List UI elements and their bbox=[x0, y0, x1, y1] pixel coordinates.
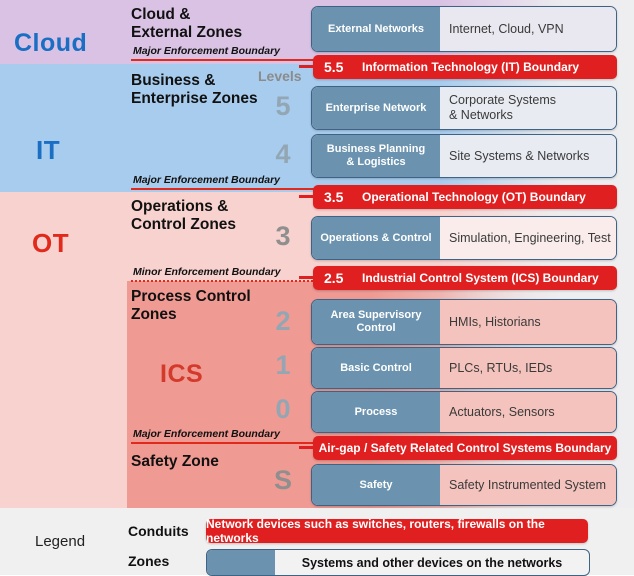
zone-row-process[interactable]: Process Actuators, Sensors bbox=[311, 391, 617, 433]
boundary-rule bbox=[131, 59, 317, 61]
title-line-1: Process Control bbox=[131, 288, 251, 306]
zone-name: Safety bbox=[312, 465, 440, 505]
zone-devices: Corporate Systems& Networks bbox=[440, 87, 616, 129]
zone-name: Basic Control bbox=[312, 348, 440, 388]
zone-devices: Safety Instrumented System bbox=[440, 465, 616, 505]
level-number-5: 5 bbox=[268, 91, 298, 122]
conduit-ics-boundary[interactable]: 2.5 Industrial Control System (ICS) Boun… bbox=[313, 266, 617, 290]
zone-row-enterprise-network[interactable]: Enterprise Network Corporate Systems& Ne… bbox=[311, 86, 617, 130]
levels-header: Levels bbox=[258, 68, 302, 84]
conduit-airgap-safety-boundary[interactable]: Air-gap / Safety Related Control Systems… bbox=[313, 436, 617, 460]
legend-zone-color-chip bbox=[207, 550, 275, 575]
conduit-tail bbox=[299, 276, 315, 279]
conduit-tail bbox=[299, 446, 315, 449]
zone-devices: HMIs, Historians bbox=[440, 300, 616, 344]
zone-group-title-cloud: Cloud & External Zones bbox=[131, 6, 242, 42]
title-line-1: Business & bbox=[131, 72, 258, 90]
zone-name: Business Planning& Logistics bbox=[312, 135, 440, 177]
boundary-major-safety: Major Enforcement Boundary bbox=[131, 429, 317, 444]
zone-row-business-planning-logistics[interactable]: Business Planning& Logistics Site System… bbox=[311, 134, 617, 178]
legend-title: Legend bbox=[35, 533, 85, 550]
conduit-number: 2.5 bbox=[313, 270, 350, 286]
level-number-s: S bbox=[268, 465, 298, 496]
title-line-2: Control Zones bbox=[131, 216, 236, 234]
domain-label-ics: ICS bbox=[160, 360, 203, 389]
level-number-4: 4 bbox=[268, 139, 298, 170]
boundary-major-cloud-it: Major Enforcement Boundary bbox=[131, 46, 317, 61]
zone-name: Enterprise Network bbox=[312, 87, 440, 129]
conduit-label: Information Technology (IT) Boundary bbox=[350, 60, 579, 74]
level-number-3: 3 bbox=[268, 221, 298, 252]
domain-label-cloud: Cloud bbox=[14, 29, 87, 58]
title-line-2: Zones bbox=[131, 306, 251, 324]
domain-label-it: IT bbox=[36, 135, 60, 166]
legend-zone-text: Systems and other devices on the network… bbox=[275, 550, 589, 575]
zone-group-title-process-control: Process Control Zones bbox=[131, 288, 251, 324]
title-line-1: Operations & bbox=[131, 198, 236, 216]
conduit-tail bbox=[299, 65, 315, 68]
boundary-rule bbox=[131, 280, 317, 282]
zone-name: Process bbox=[312, 392, 440, 432]
title-line-2: Enterprise Zones bbox=[131, 90, 258, 108]
conduit-number: 3.5 bbox=[313, 189, 350, 205]
boundary-caption: Minor Enforcement Boundary bbox=[131, 267, 317, 279]
zone-name: Area SupervisoryControl bbox=[312, 300, 440, 344]
zone-group-title-safety: Safety Zone bbox=[131, 453, 219, 471]
zone-devices: PLCs, RTUs, IEDs bbox=[440, 348, 616, 388]
title-line-1: Safety Zone bbox=[131, 453, 219, 471]
conduit-label: Operational Technology (OT) Boundary bbox=[350, 190, 586, 204]
zone-row-area-supervisory-control[interactable]: Area SupervisoryControl HMIs, Historians bbox=[311, 299, 617, 345]
zone-row-safety[interactable]: Safety Safety Instrumented System bbox=[311, 464, 617, 506]
zone-devices: Simulation, Engineering, Test bbox=[440, 217, 616, 259]
boundary-caption: Major Enforcement Boundary bbox=[131, 429, 317, 441]
zone-group-title-business: Business & Enterprise Zones bbox=[131, 72, 258, 108]
boundary-caption: Major Enforcement Boundary bbox=[131, 46, 317, 58]
legend-conduit-swatch: Network devices such as switches, router… bbox=[206, 519, 588, 543]
zone-devices: Actuators, Sensors bbox=[440, 392, 616, 432]
zone-row-operations-control[interactable]: Operations & Control Simulation, Enginee… bbox=[311, 216, 617, 260]
zone-name: External Networks bbox=[312, 7, 440, 51]
conduit-it-boundary[interactable]: 5.5 Information Technology (IT) Boundary bbox=[313, 55, 617, 79]
zone-devices: Internet, Cloud, VPN bbox=[440, 7, 616, 51]
zone-row-external-networks[interactable]: External Networks Internet, Cloud, VPN bbox=[311, 6, 617, 52]
title-line-2: External Zones bbox=[131, 24, 242, 42]
zone-group-title-operations: Operations & Control Zones bbox=[131, 198, 236, 234]
boundary-major-it-ot: Major Enforcement Boundary bbox=[131, 175, 317, 190]
legend-zone-swatch: Systems and other devices on the network… bbox=[206, 549, 590, 576]
zone-devices: Site Systems & Networks bbox=[440, 135, 616, 177]
conduit-ot-boundary[interactable]: 3.5 Operational Technology (OT) Boundary bbox=[313, 185, 617, 209]
boundary-rule bbox=[131, 188, 317, 190]
legend-key-zones: Zones bbox=[128, 553, 169, 569]
level-number-2: 2 bbox=[268, 306, 298, 337]
conduit-label: Air-gap / Safety Related Control Systems… bbox=[313, 441, 617, 455]
legend-conduit-text: Network devices such as switches, router… bbox=[206, 517, 588, 545]
zone-row-basic-control[interactable]: Basic Control PLCs, RTUs, IEDs bbox=[311, 347, 617, 389]
title-line-1: Cloud & bbox=[131, 6, 242, 24]
zone-name: Operations & Control bbox=[312, 217, 440, 259]
level-number-0: 0 bbox=[268, 394, 298, 425]
boundary-caption: Major Enforcement Boundary bbox=[131, 175, 317, 187]
legend-key-conduits: Conduits bbox=[128, 523, 189, 539]
level-number-1: 1 bbox=[268, 350, 298, 381]
purdue-model-diagram: Cloud IT OT ICS Cloud & External Zones B… bbox=[0, 0, 634, 575]
conduit-number: 5.5 bbox=[313, 59, 350, 75]
conduit-label: Industrial Control System (ICS) Boundary bbox=[350, 271, 599, 285]
domain-label-ot: OT bbox=[32, 228, 69, 259]
boundary-rule bbox=[131, 442, 317, 444]
boundary-minor-ics: Minor Enforcement Boundary bbox=[131, 267, 317, 282]
conduit-tail bbox=[299, 195, 315, 198]
